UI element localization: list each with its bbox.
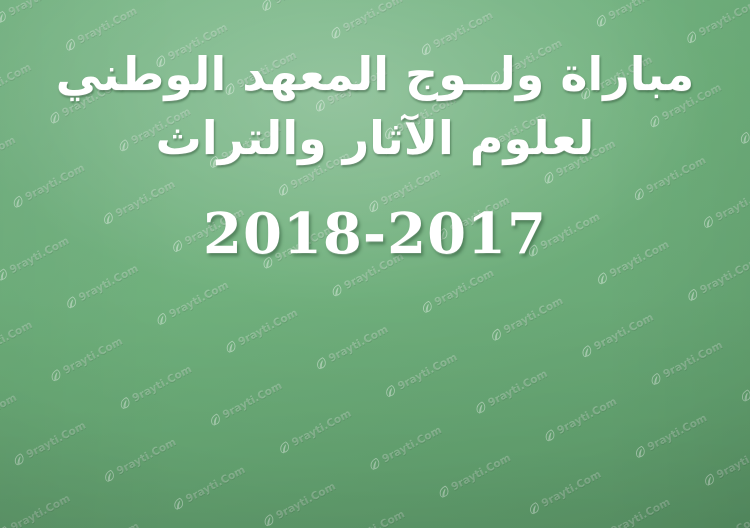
academic-year-label: 2018-2017 [0, 202, 750, 267]
banner-content: مباراة ولــوج المعهد الوطني لعلوم الآثار… [0, 0, 750, 528]
title-line-1: مباراة ولــوج المعهد الوطني [0, 48, 750, 101]
announcement-banner: 9rayti.Com9rayti.Com9rayti.Com9rayti.Com… [0, 0, 750, 528]
title-line-2: لعلوم الآثار والتراث [0, 112, 750, 165]
